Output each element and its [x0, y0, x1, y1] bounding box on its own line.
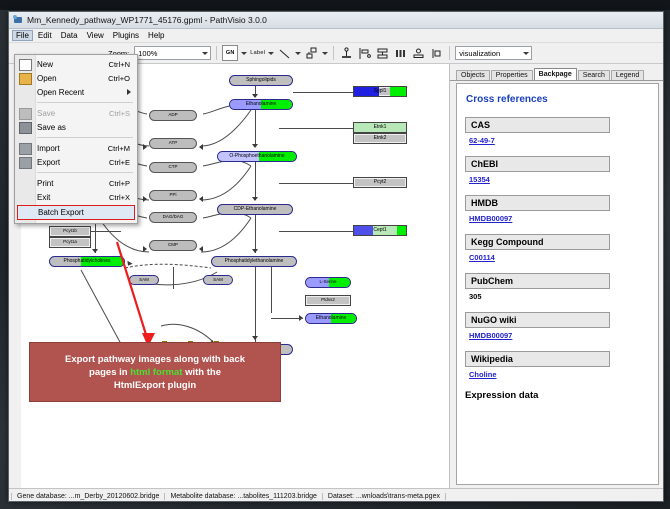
pathway-node-pcyt1a[interactable]: Pcyt1a — [49, 237, 91, 248]
side-panel: Objects Properties Backpage Search Legen… — [450, 64, 663, 488]
anchor-button[interactable] — [339, 46, 354, 60]
zoom-value: 100% — [138, 49, 157, 58]
node-label: Ethanolamine — [316, 316, 347, 321]
stack-icon — [376, 47, 389, 60]
node-label: Pcyt2 — [374, 180, 387, 185]
connector — [279, 183, 353, 184]
file-menu-accelerator: Ctrl+M — [108, 144, 137, 153]
save-as-icon — [19, 122, 32, 134]
xref-value-pubchem: 305 — [469, 292, 650, 301]
submenu-arrow-icon — [127, 89, 137, 95]
node-label: Sphingolipids — [246, 78, 276, 83]
node-label: SAM — [213, 278, 223, 283]
title-bar: Mm_Kennedy_pathway_WP1771_45176.gpml - P… — [9, 12, 663, 29]
pathway-node-dag-dag[interactable]: DAG/DAG — [149, 212, 197, 223]
datanode-button[interactable]: GN — [222, 45, 238, 61]
line-dropdown-arrow[interactable] — [295, 52, 301, 55]
label-button[interactable]: Label — [250, 46, 265, 60]
pathway-node-ethanolamine-top[interactable]: Ethanolamine — [229, 99, 293, 110]
node-fill — [397, 226, 406, 235]
pathway-node-phosphatidylethanolamine[interactable]: Phosphatidylethanolamine — [211, 256, 297, 267]
pathway-node-sam-left[interactable]: SAM — [129, 275, 159, 285]
menu-edit[interactable]: Edit — [34, 30, 56, 41]
align-left-button[interactable] — [357, 46, 372, 60]
xref-value-nugo-wiki[interactable]: HMDB00097 — [469, 331, 650, 340]
window-title: Mm_Kennedy_pathway_WP1771_45176.gpml - P… — [27, 15, 267, 25]
pathway-node-adp[interactable]: ADP — [149, 110, 197, 121]
arrow-icon — [199, 144, 203, 150]
pathway-node-cept1[interactable]: Cept1 — [353, 225, 407, 236]
pathway-node-atp[interactable]: ATP — [149, 138, 197, 149]
datanode-icon: GN — [226, 50, 235, 56]
toolbar-separator-3 — [449, 46, 450, 60]
group-button[interactable] — [411, 46, 426, 60]
annotation-line-1: Export pathway images along with back — [65, 353, 245, 366]
anchor-icon — [340, 47, 353, 60]
shape-dropdown-arrow[interactable] — [322, 52, 328, 55]
cross-reference-list: CAS62-49-7ChEBI15354HMDBHMDB00097Kegg Co… — [465, 117, 650, 379]
pathway-node-etnk1[interactable]: Etnk1 — [353, 122, 407, 133]
xref-source-chebi: ChEBI — [465, 156, 610, 172]
export-icon — [19, 157, 32, 169]
xref-source-pubchem: PubChem — [465, 273, 610, 289]
pathway-node-sam-right[interactable]: SAM — [203, 275, 233, 285]
pathway-node-sphingolipids[interactable]: Sphingolipids — [229, 75, 293, 86]
distribute-button[interactable] — [393, 46, 408, 60]
menu-data[interactable]: Data — [57, 30, 82, 41]
new-file-icon — [19, 59, 32, 71]
distribute-icon — [394, 47, 407, 60]
annotation-callout: Export pathway images along with back pa… — [29, 342, 281, 402]
xref-value-kegg-compound[interactable]: C00114 — [469, 253, 650, 262]
file-menu-label: New — [37, 60, 53, 69]
arrow-icon — [143, 144, 147, 150]
node-label: O-Phosphoethanolamine — [229, 154, 284, 159]
line-icon — [278, 47, 291, 60]
annotation-line-3: HtmlExport plugin — [114, 379, 196, 392]
file-menu-accelerator: Ctrl+E — [109, 158, 137, 167]
connector — [91, 231, 121, 232]
node-label: L-Serine — [319, 280, 336, 285]
file-menu-item-open[interactable]: OpenCtrl+O — [15, 71, 137, 85]
node-label: DAG/DAG — [163, 215, 184, 220]
pathway-node-cdp-ethanolamine[interactable]: CDP-Ethanolamine — [217, 204, 293, 215]
xref-source-nugo-wiki: NuGO wiki — [465, 312, 610, 328]
file-menu-item-open-recent[interactable]: Open Recent — [15, 85, 137, 99]
status-gene-database: Gene database: ...m_Derby_20120602.bridg… — [11, 493, 165, 500]
file-menu-label: Save as — [37, 123, 66, 132]
cross-references-title: Cross references — [466, 94, 650, 105]
file-menu-label: Open Recent — [37, 88, 84, 97]
file-menu-item-import[interactable]: ImportCtrl+M — [15, 141, 137, 155]
visualization-value: visualization — [459, 49, 500, 58]
tab-backpage[interactable]: Backpage — [534, 68, 577, 80]
node-label: CDP-Ethanolamine — [234, 207, 277, 212]
status-metabolite-database: Metabolite database: ...tabolites_111203… — [165, 493, 322, 500]
file-menu-accelerator: Ctrl+O — [108, 74, 137, 83]
tab-objects[interactable]: Objects — [456, 70, 490, 80]
node-label: Ethanolamine — [246, 102, 277, 107]
shape-icon — [305, 47, 318, 60]
file-menu-accelerator: Ctrl+S — [109, 109, 137, 118]
file-menu-item-new[interactable]: NewCtrl+N — [15, 57, 137, 71]
node-label: Etnk2 — [374, 136, 387, 141]
annotation-line-2: pages in html format with the — [89, 366, 221, 379]
node-label: Phosphatidylethanolamine — [225, 259, 284, 264]
expression-data-title: Expression data — [465, 390, 650, 401]
order-icon — [430, 47, 443, 60]
side-panel-tabs: Objects Properties Backpage Search Legen… — [450, 64, 663, 81]
connector — [279, 128, 353, 129]
file-menu-item-batch-export[interactable]: Batch Export — [17, 205, 135, 220]
file-menu-item-exit[interactable]: ExitCtrl+X — [15, 190, 137, 204]
arrow-icon — [143, 196, 147, 202]
pathway-node-phosphatidylcholines[interactable]: Phosphatidylcholines — [49, 256, 125, 267]
tab-legend[interactable]: Legend — [611, 70, 644, 80]
tab-properties[interactable]: Properties — [491, 70, 533, 80]
menu-bar: File Edit Data View Plugins Help — [9, 29, 663, 43]
chevron-down-icon — [202, 52, 208, 55]
arrow-icon — [199, 246, 203, 252]
node-label: Etnk1 — [374, 125, 387, 130]
xref-value-chebi[interactable]: 15354 — [469, 175, 650, 184]
node-label: PPi — [169, 193, 176, 198]
arrow-icon — [252, 94, 258, 98]
node-label: Ptdss2 — [321, 298, 335, 303]
file-menu-label: Import — [37, 144, 60, 153]
status-bar: Gene database: ...m_Derby_20120602.bridg… — [9, 488, 663, 502]
label-icon: Label — [250, 50, 265, 56]
toolbar-separator-2 — [333, 46, 334, 60]
node-fill — [390, 87, 406, 96]
menu-separator — [37, 102, 133, 103]
arrow-icon — [199, 196, 203, 202]
node-label: CMP — [168, 243, 178, 248]
node-fill — [354, 226, 373, 235]
connector — [293, 92, 353, 93]
node-label: SAM — [139, 278, 149, 283]
pathvisio-icon — [13, 15, 23, 25]
menu-separator — [37, 137, 133, 138]
pathway-node-ppi[interactable]: PPi — [149, 190, 197, 201]
connector — [279, 231, 353, 232]
open-folder-icon — [19, 73, 32, 85]
backpage-content: Cross references CAS62-49-7ChEBI15354HMD… — [456, 83, 659, 485]
menu-plugins[interactable]: Plugins — [109, 30, 143, 41]
file-menu-item-save-as[interactable]: Save as — [15, 120, 137, 134]
annotation-highlight: html format — [130, 367, 182, 378]
file-menu-label: Exit — [37, 193, 50, 202]
annotation-line-2-pre: pages in — [89, 367, 130, 378]
status-dataset: Dataset: ...wnloads\trans-meta.pgex — [323, 493, 446, 500]
line-button[interactable] — [277, 46, 292, 60]
group-icon — [412, 47, 425, 60]
file-menu-item-save: SaveCtrl+S — [15, 106, 137, 120]
menu-help[interactable]: Help — [144, 30, 168, 41]
node-label: CTP — [169, 165, 178, 170]
order-button[interactable] — [429, 46, 444, 60]
xref-source-wikipedia: Wikipedia — [465, 351, 610, 367]
zoom-combobox[interactable]: 100% — [134, 46, 211, 60]
pathway-node-pcyt1b[interactable]: Pcyt1b — [49, 226, 91, 237]
node-label: Pcyt1a — [63, 240, 77, 245]
visualization-combobox[interactable]: visualization — [455, 46, 532, 60]
datanode-dropdown-arrow[interactable] — [241, 52, 247, 55]
file-menu-label: Open — [37, 74, 57, 83]
import-icon — [19, 143, 32, 155]
pathway-node-sgpl1[interactable]: Sgpl1 — [353, 86, 407, 97]
toolbar-separator — [216, 46, 217, 60]
node-label: Cept1 — [373, 228, 386, 233]
file-menu-label: Save — [37, 109, 55, 118]
file-menu-item-print[interactable]: PrintCtrl+P — [15, 176, 137, 190]
xref-value-cas[interactable]: 62-49-7 — [469, 136, 650, 145]
tab-search[interactable]: Search — [578, 70, 610, 80]
chevron-down-icon-2 — [523, 52, 529, 55]
pathway-node-etnk2[interactable]: Etnk2 — [353, 133, 407, 144]
xref-source-kegg-compound: Kegg Compound — [465, 234, 610, 250]
pathway-node-cmp[interactable]: CMP — [149, 240, 197, 251]
desktop-background: Mm_Kennedy_pathway_WP1771_45176.gpml - P… — [0, 0, 670, 509]
menu-view[interactable]: View — [83, 30, 108, 41]
xref-source-hmdb: HMDB — [465, 195, 610, 211]
file-menu-accelerator: Ctrl+P — [109, 179, 137, 188]
pathway-node-ptdss2[interactable]: Ptdss2 — [305, 295, 351, 306]
file-menu-label: Print — [37, 179, 53, 188]
xref-source-cas: CAS — [465, 117, 610, 133]
shape-button[interactable] — [304, 46, 319, 60]
pathway-node-l-serine[interactable]: L-Serine — [305, 277, 351, 288]
save-icon — [19, 108, 32, 120]
node-label: Sgpl1 — [374, 89, 387, 94]
xref-value-wikipedia[interactable]: Choline — [469, 370, 650, 379]
label-dropdown-arrow[interactable] — [268, 52, 274, 55]
align-left-icon — [358, 47, 371, 60]
file-menu-dropdown[interactable]: NewCtrl+NOpenCtrl+OOpen RecentSaveCtrl+S… — [14, 54, 138, 224]
file-menu-item-export[interactable]: ExportCtrl+E — [15, 155, 137, 169]
pathway-node-ethanolamine-low[interactable]: Ethanolamine — [305, 313, 357, 324]
arrow-icon — [143, 246, 147, 252]
pathway-node-o-phosphoethanolamine[interactable]: O-Phosphoethanolamine — [217, 151, 297, 162]
file-menu-label: Batch Export — [38, 208, 84, 217]
annotation-line-2-post: with the — [182, 367, 221, 378]
pathway-node-ctp[interactable]: CTP — [149, 162, 197, 173]
node-label: ATP — [169, 141, 177, 146]
file-menu-accelerator: Ctrl+N — [109, 60, 137, 69]
menu-separator — [37, 172, 133, 173]
pathway-node-pcyt2[interactable]: Pcyt2 — [353, 177, 407, 188]
xref-value-hmdb[interactable]: HMDB00097 — [469, 214, 650, 223]
pathvisio-window: Mm_Kennedy_pathway_WP1771_45176.gpml - P… — [8, 11, 664, 502]
align-stack-button[interactable] — [375, 46, 390, 60]
file-menu-accelerator: Ctrl+X — [109, 193, 137, 202]
file-menu-label: Export — [37, 158, 60, 167]
node-label: ADP — [168, 113, 177, 118]
node-label: Phosphatidylcholines — [64, 259, 111, 264]
menu-file[interactable]: File — [12, 30, 33, 41]
node-label: Pcyt1b — [63, 229, 77, 234]
